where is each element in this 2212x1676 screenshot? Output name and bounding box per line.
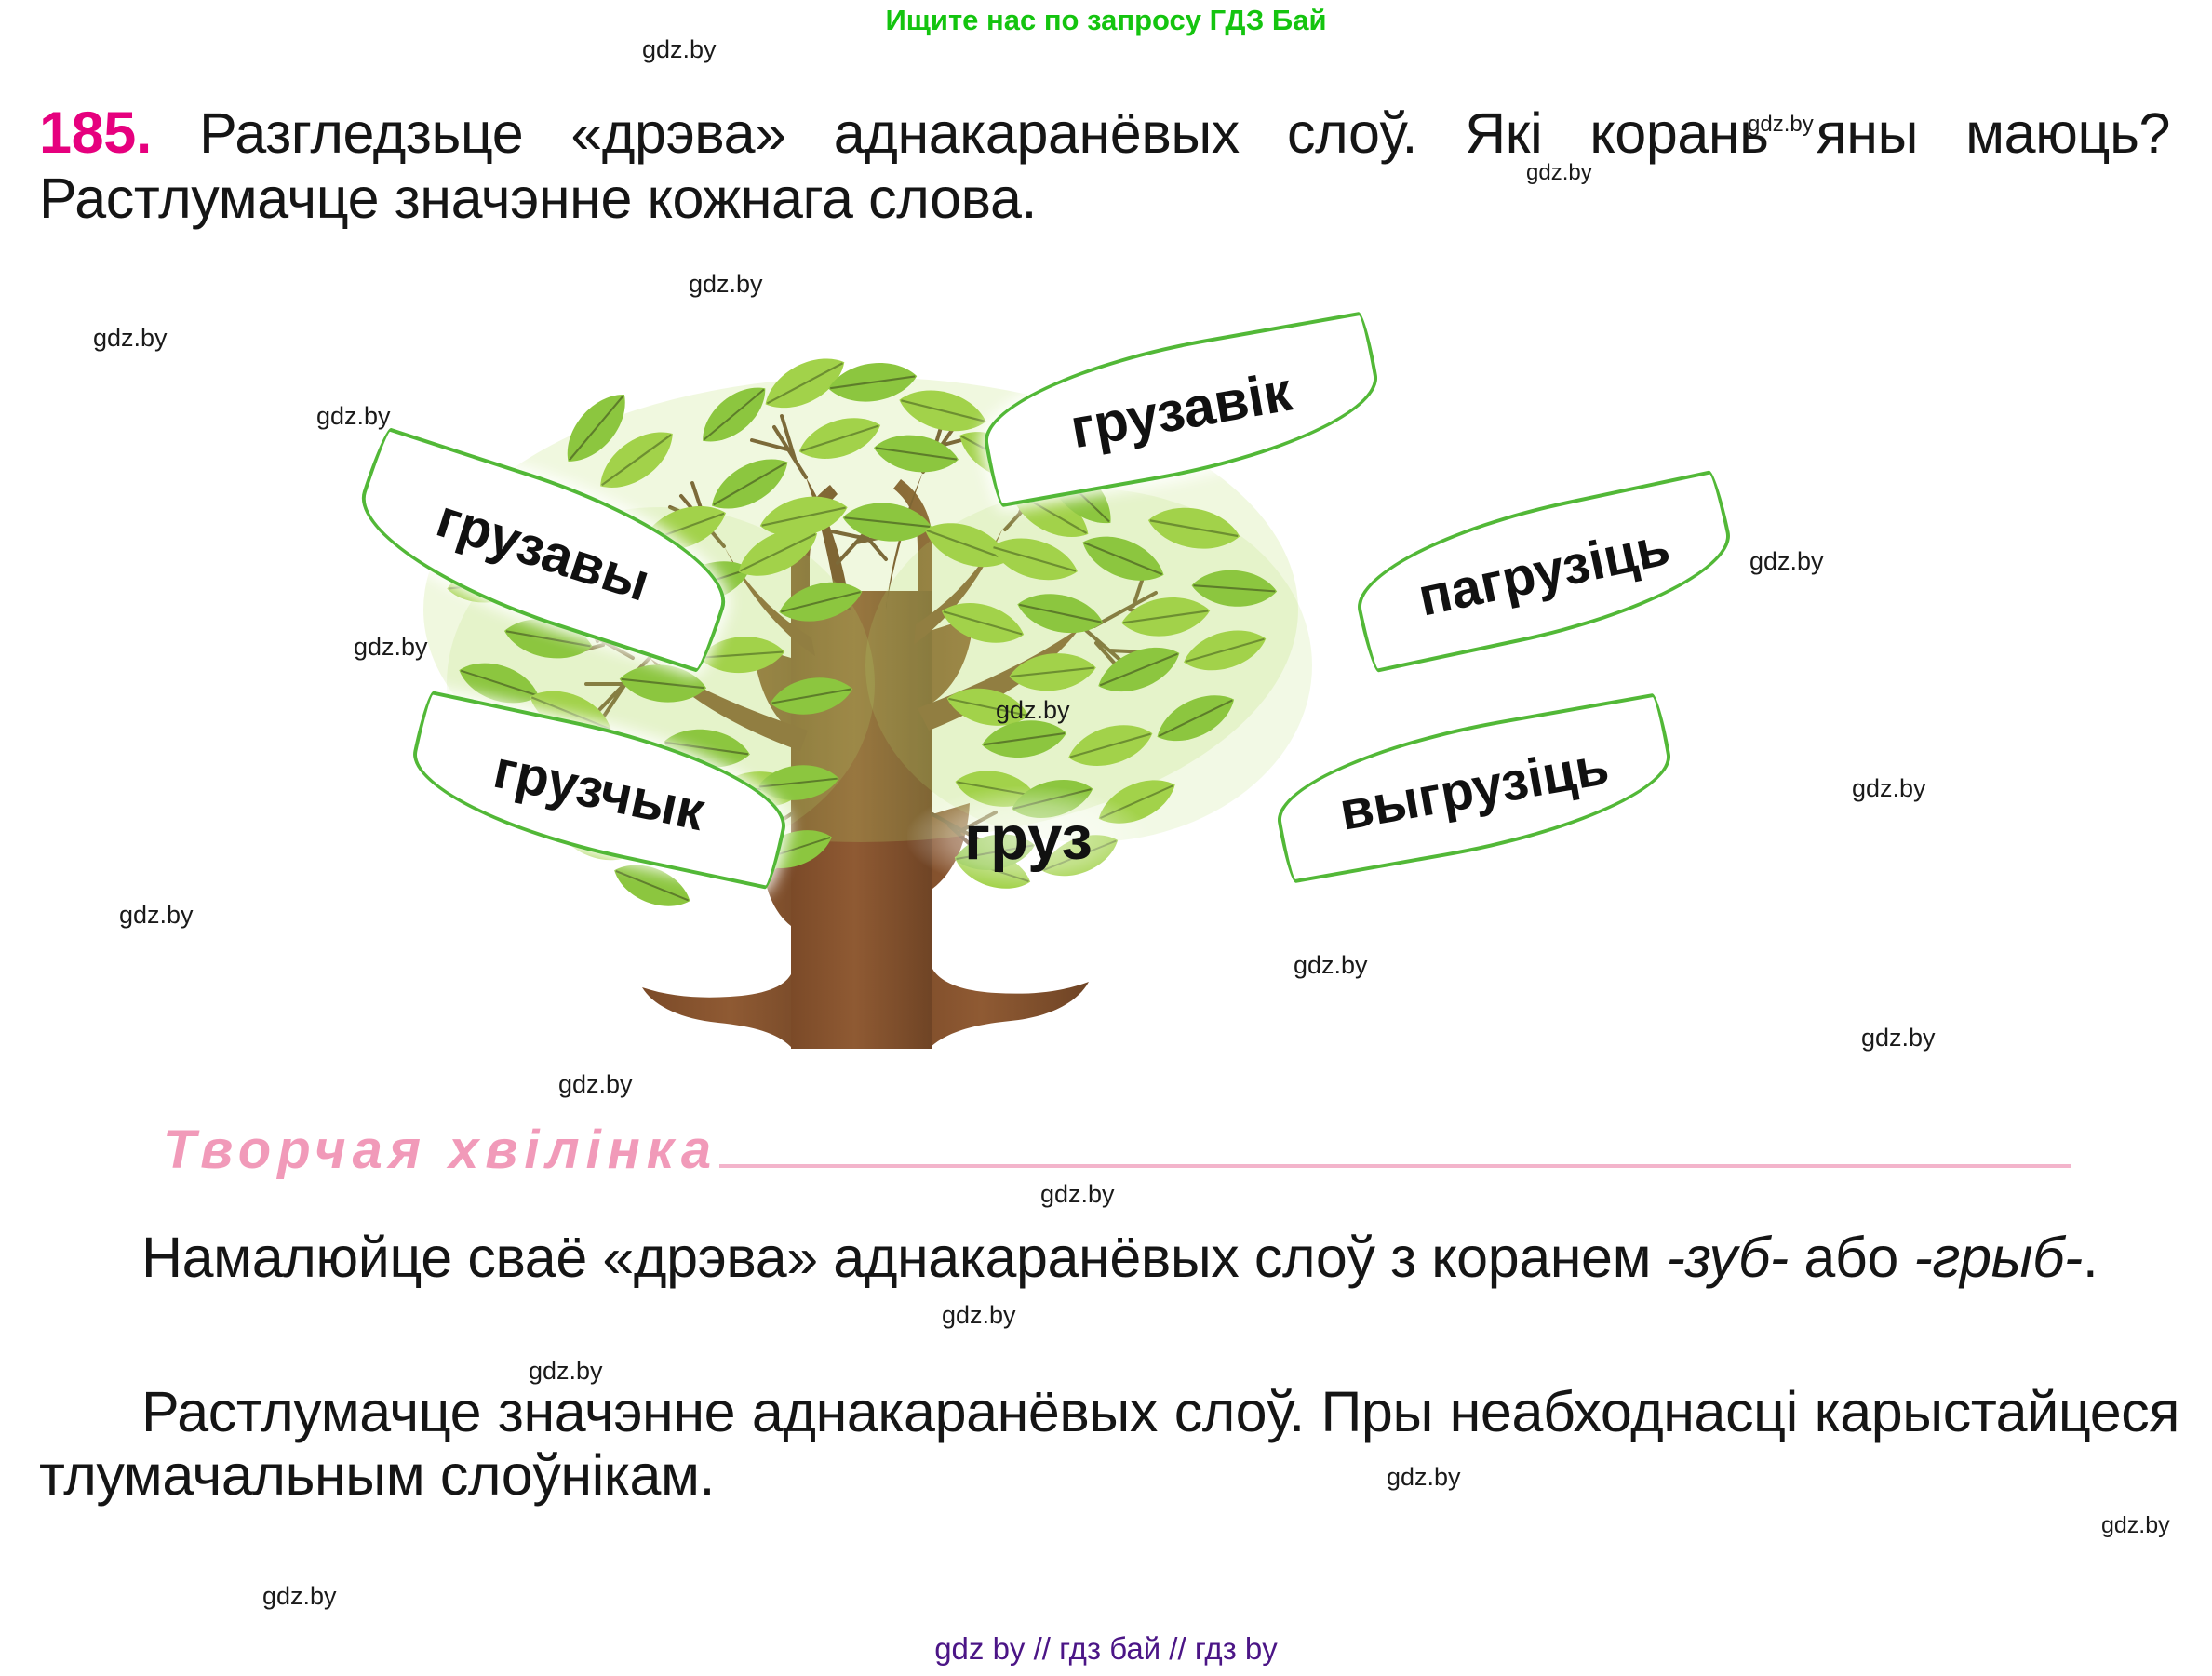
watermark-stamp: gdz.by — [689, 270, 763, 299]
watermark-stamp: gdz.by — [1852, 774, 1926, 803]
footer-links: gdz by // гдз бай // гдз by — [0, 1631, 2212, 1667]
promo-banner: Ищите нас по запросу ГДЗ Бай — [0, 4, 2212, 37]
watermark-stamp: gdz.by — [93, 324, 168, 353]
creative-section-heading: Творчая хвілінка — [163, 1123, 2071, 1177]
root-zub: -зуб- — [1667, 1226, 1789, 1289]
explain-task-text: Растлумачце значэнне аднакаранёвых слоў.… — [39, 1380, 2179, 1507]
root-gryb: -грыб- — [1913, 1226, 2082, 1289]
watermark-stamp: gdz.by — [642, 35, 717, 64]
watermark-stamp: gdz.by — [1040, 1180, 1115, 1209]
watermark-stamp: gdz.by — [119, 901, 194, 930]
watermark-stamp: gdz.by — [942, 1301, 1016, 1330]
watermark-stamp: gdz.by — [1861, 1024, 1936, 1053]
exercise-number: 185. — [39, 101, 152, 166]
draw-task-text-a: Намалюйце сваё «дрэва» аднакаранёвых сло… — [141, 1226, 1667, 1289]
explain-task-paragraph: Растлумачце значэнне аднакаранёвых слоў.… — [39, 1380, 2179, 1508]
exercise-paragraph: 185. Разгледзьце «дрэва» аднакаранёвых с… — [39, 101, 2170, 230]
word-bubble-pagruzic: пагрузіць — [1345, 469, 1743, 674]
creative-title: Творчая хвілінка — [163, 1123, 717, 1177]
draw-task-text-b: або — [1789, 1226, 1914, 1289]
exercise-text: Разгледзьце «дрэва» аднакаранёвых слоў. … — [39, 101, 2170, 230]
draw-task-text-c: . — [2083, 1226, 2098, 1289]
root-word-label: груз — [907, 786, 1149, 889]
draw-task-paragraph: Намалюйце сваё «дрэва» аднакаранёвых сло… — [39, 1226, 2179, 1289]
watermark-stamp: gdz.by — [1749, 547, 1824, 576]
watermark-stamp: gdz.by — [2101, 1512, 2170, 1539]
watermark-stamp: gdz.by — [262, 1582, 337, 1611]
heading-rule — [719, 1164, 2071, 1168]
watermark-stamp: gdz.by — [558, 1070, 633, 1099]
